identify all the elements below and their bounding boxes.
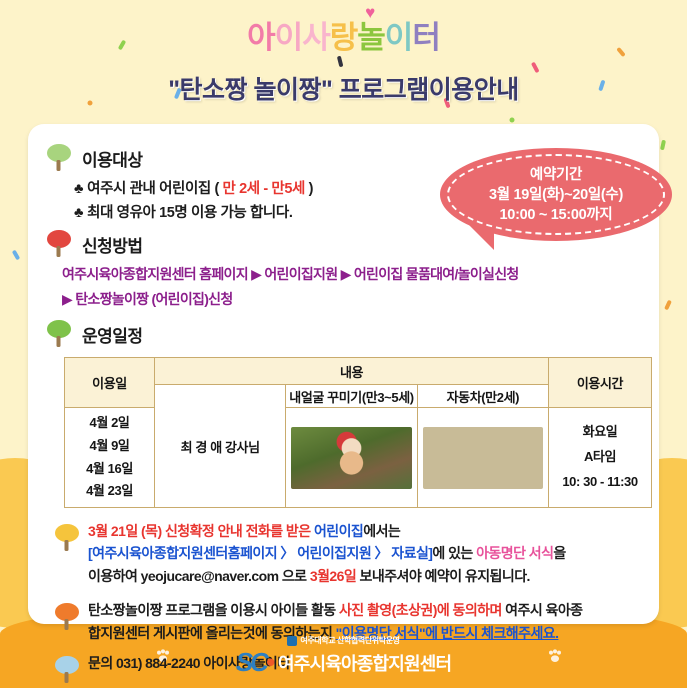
- time-cell: 화요일 A타임 10: 30 - 11:30: [549, 408, 652, 508]
- face-craft-photo: [291, 427, 411, 489]
- table-body-row: 4월 2일 4월 9일 4월 16일 4월 23일 화요일 A타임 10: 30…: [65, 408, 652, 508]
- green-tree-icon: [44, 142, 74, 174]
- green-tree-icon: [44, 318, 74, 350]
- logo-char: 사: [302, 12, 330, 57]
- notice-span: 3월26일: [310, 568, 356, 584]
- notice-span: 여주시 육아종: [502, 602, 583, 618]
- photo-cell-face-craft: [286, 408, 417, 508]
- section-title: 이용대상: [82, 146, 143, 171]
- notice-span: 사진 촬영(초상권)에 동의하며: [339, 602, 502, 618]
- bubble-line-1: 예약기간: [530, 165, 582, 185]
- notice-span: 아동명단 서식: [476, 545, 553, 561]
- apply-flow-line-1: 여주시육아종합지원센터 홈페이지 ▶ 어린이집지원 ▶ 어린이집 물품대여/놀이…: [62, 264, 643, 285]
- logo-char: 랑: [330, 12, 358, 57]
- bubble-line-3: 10:00 ~ 15:00까지: [500, 205, 613, 225]
- logo-char: 터: [412, 12, 440, 57]
- teacher-cell: 최 경 애 강사님: [155, 385, 286, 508]
- section-schedule-heading: 운영일정: [44, 318, 643, 350]
- orange-tree-icon: [52, 601, 82, 633]
- club-icon: ♣: [74, 205, 83, 221]
- notice-span: 보내주셔야 예약이 유지됩니다.: [356, 568, 530, 584]
- bullet-pre: 여주시 관내 어린이집 (: [87, 181, 222, 197]
- center-name-row: SC• 여주시육아종합지원센터: [0, 647, 687, 678]
- time-weekday: 화요일: [549, 420, 651, 445]
- notice-span: 에 있는: [432, 545, 476, 561]
- time-range: 10: 30 - 11:30: [549, 470, 651, 495]
- logo-char: 이: [275, 12, 303, 57]
- header-content: 내용: [155, 358, 549, 385]
- university-text: 여주대학교 산학협력단위탁운영: [300, 635, 399, 646]
- notice-span: 3월 21일 (목) 신청확정 안내 전화를 받은: [88, 523, 314, 539]
- red-tree-icon: [44, 228, 74, 260]
- notice-line: [여주시육아종합지원센터홈페이지 〉 어린이집지원 〉 자료실]에 있는 아동명…: [88, 542, 566, 564]
- date-item: 4월 2일: [65, 412, 154, 435]
- bullet-post: ): [305, 181, 313, 197]
- notice-body: 3월 21일 (목) 신청확정 안내 전화를 받은 어린이집에서는 [여주시육아…: [88, 520, 566, 587]
- content-label-1: 내얼굴 꾸미기(만3~5세): [286, 385, 417, 408]
- table-header-row: 이용일 내용 이용시간: [65, 358, 652, 385]
- bullet-highlight: 만 2세 - 만5세: [223, 181, 305, 197]
- sc-letters: SC: [236, 647, 266, 677]
- logo-char: 아: [247, 12, 275, 57]
- toy-cars-photo: [423, 427, 543, 489]
- club-icon: ♣: [74, 181, 83, 197]
- date-item: 4월 9일: [65, 435, 154, 458]
- notice-line: 3월 21일 (목) 신청확정 안내 전화를 받은 어린이집에서는: [88, 520, 566, 542]
- notice-span: 어린이집: [314, 523, 363, 539]
- sc-logo-mark: SC•: [236, 647, 272, 678]
- section-title: 운영일정: [82, 322, 143, 347]
- date-item: 4월 23일: [65, 480, 154, 503]
- notice-span: 탄소짱놀이짱 프로그램을 이용시 아이들 활동: [88, 602, 339, 618]
- header-date: 이용일: [65, 358, 155, 408]
- bullet-pre: 최대 영유아 15명 이용 가능 합니다.: [87, 205, 292, 221]
- content-label-2: 자동차(만2세): [417, 385, 548, 408]
- footer-logo: 여주대학교 산학협력단위탁운영 SC• 여주시육아종합지원센터: [0, 635, 687, 678]
- photo-cell-toy-cars: [417, 408, 548, 508]
- yellow-tree-icon: [52, 522, 82, 554]
- notice-line: 이용하여 yeojucare@naver.com 으로 3월26일 보내주셔야 …: [88, 565, 566, 587]
- notice-line: 탄소짱놀이짱 프로그램을 이용시 아이들 활동 사진 촬영(초상권)에 동의하며…: [88, 599, 583, 621]
- schedule-table: 이용일 내용 이용시간 최 경 애 강사님 내얼굴 꾸미기(만3~5세) 자동차…: [64, 357, 652, 508]
- bubble-line-2: 3월 19일(화)~20일(수): [489, 185, 623, 205]
- notice-span: 에서는: [363, 523, 400, 539]
- sc-dot-icon: •: [266, 647, 272, 677]
- university-mark-icon: [287, 636, 297, 646]
- notice-application-confirm: 3월 21일 (목) 신청확정 안내 전화를 받은 어린이집에서는 [여주시육아…: [52, 520, 643, 587]
- heart-icon: ♥: [365, 3, 374, 23]
- header-time: 이용시간: [549, 358, 652, 408]
- logo-char: 이: [385, 12, 413, 57]
- date-item: 4월 16일: [65, 458, 154, 481]
- apply-flow-line-2: ▶ 탄소짱놀이짱 (어린이집)신청: [62, 289, 643, 310]
- site-logo: 아이사랑놀이터 ♥: [0, 12, 687, 64]
- notice-span: 이용하여 yeojucare@naver.com 으로: [88, 568, 310, 584]
- page-title: "탄소짱 놀이짱" 프로그램이용안내: [0, 70, 687, 106]
- university-line: 여주대학교 산학협력단위탁운영: [0, 635, 687, 646]
- date-cell: 4월 2일 4월 9일 4월 16일 4월 23일: [65, 408, 155, 508]
- center-name-text: 여주시육아종합지원센터: [278, 650, 451, 676]
- notice-span: 을: [553, 545, 565, 561]
- section-title: 신청방법: [82, 232, 143, 257]
- notice-span: [여주시육아종합지원센터홈페이지 〉 어린이집지원 〉 자료실]: [88, 545, 432, 561]
- time-slot: A타임: [549, 445, 651, 470]
- reservation-period-bubble: 예약기간 3월 19일(화)~20일(수) 10:00 ~ 15:00까지: [440, 148, 672, 241]
